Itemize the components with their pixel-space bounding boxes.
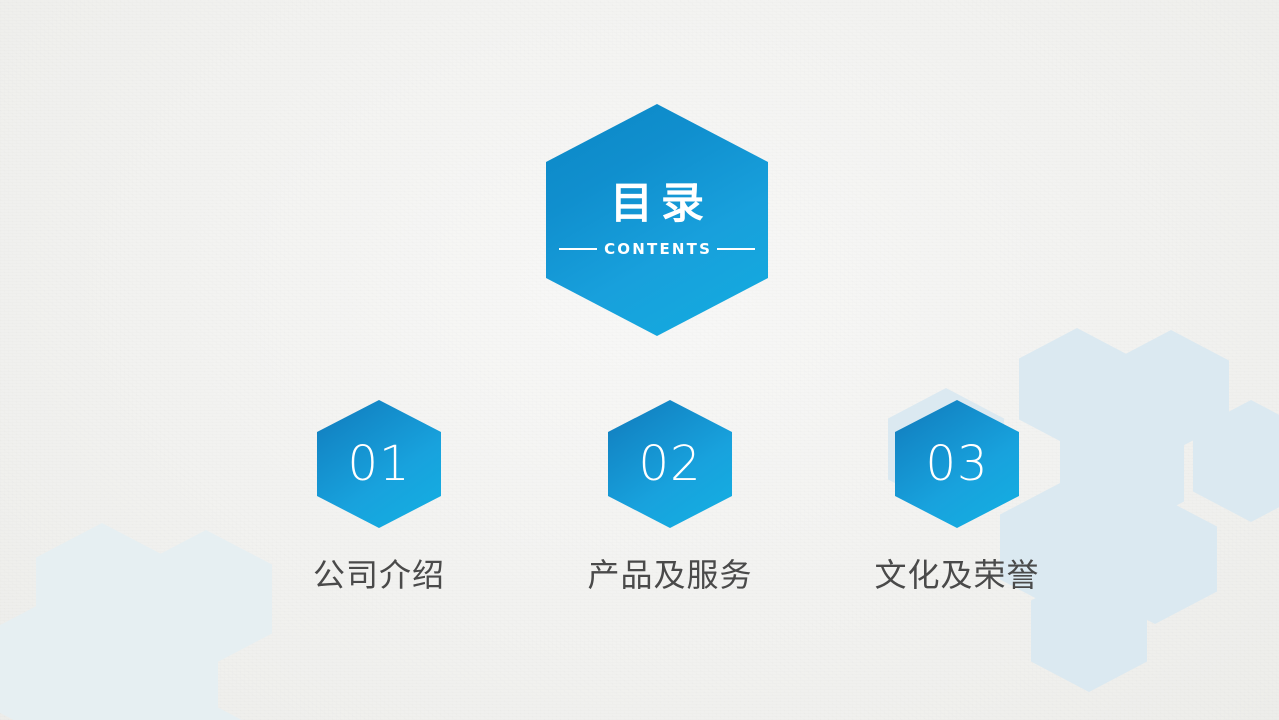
agenda-item-03-number: 03 xyxy=(895,400,1019,528)
rule-right xyxy=(717,248,755,250)
page-title: 目录 xyxy=(602,183,712,226)
decor-hexagon xyxy=(1019,328,1135,450)
decor-hexagon xyxy=(1193,400,1279,522)
contents-subtitle: CONTENTS xyxy=(597,240,717,258)
decor-hexagon xyxy=(86,623,218,720)
contents-subtitle-row: CONTENTS xyxy=(555,240,760,258)
rule-left xyxy=(559,248,597,250)
contents-title-content: 目录 CONTENTS xyxy=(546,104,768,336)
decor-hexagon xyxy=(1113,330,1229,452)
decor-hexagon xyxy=(140,530,272,668)
agenda-item-02-number: 02 xyxy=(608,400,732,528)
decor-hexagon xyxy=(1093,494,1217,624)
decor-hexagon xyxy=(0,600,114,720)
agenda-item-03-label: 文化及荣誉 xyxy=(842,550,1072,596)
decor-hexagon xyxy=(1060,404,1184,534)
decor-hexagon xyxy=(36,523,168,661)
agenda-item-01-number: 01 xyxy=(317,400,441,528)
decor-hexagon xyxy=(20,690,152,720)
slide-canvas: 目录 CONTENTS 01 公司介绍 02 产品及服务 03 文化及荣誉 xyxy=(0,0,1279,720)
decor-hexagon xyxy=(128,695,260,720)
agenda-item-02-label: 产品及服务 xyxy=(555,550,785,596)
agenda-item-01-label: 公司介绍 xyxy=(264,550,494,596)
